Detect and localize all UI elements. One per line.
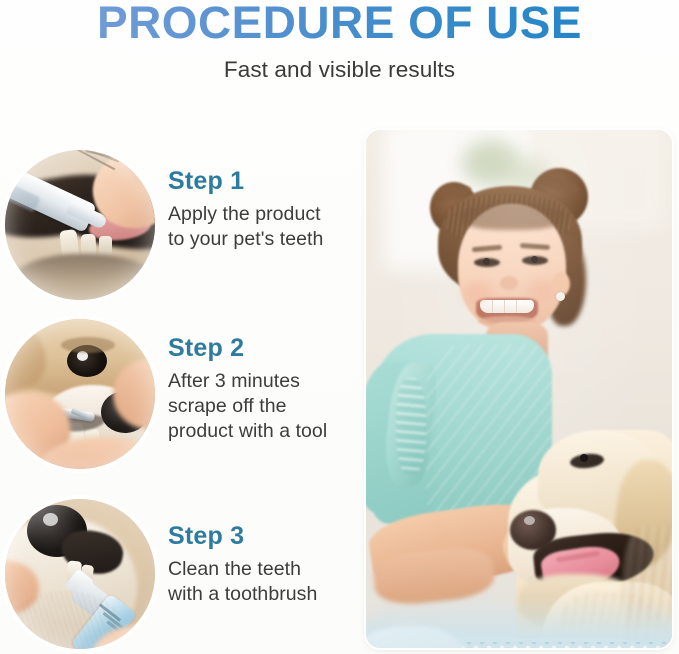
- step-2-image: [5, 319, 155, 469]
- step-2-text: Step 2 After 3 minutes scrape off the pr…: [155, 319, 327, 444]
- step-item-3: Step 3 Clean the teeth with a toothbrush: [0, 499, 356, 649]
- step-2-description: After 3 minutes scrape off the product w…: [168, 363, 327, 444]
- dog-teeth-gel-application-photo: [5, 150, 155, 300]
- shiba-inu-tartar-scraping-photo: [5, 319, 155, 469]
- girl-hugging-golden-retriever-photo: [366, 130, 672, 648]
- step-3-description: Clean the teeth with a toothbrush: [168, 551, 317, 607]
- steps-list: Step 1 Apply the product to your pet's t…: [0, 131, 356, 651]
- poster-header: PROCEDURE OF USE Fast and visible result…: [0, 0, 679, 83]
- step-3-image: [5, 499, 155, 649]
- step-3-title: Step 3: [168, 521, 317, 551]
- step-1-image: [5, 150, 155, 300]
- step-1-description: Apply the product to your pet's teeth: [168, 196, 323, 252]
- dog-toothbrush-pen-photo: [5, 499, 155, 649]
- step-1-text: Step 1 Apply the product to your pet's t…: [155, 150, 323, 252]
- page-title: PROCEDURE OF USE: [0, 0, 679, 45]
- page-subtitle: Fast and visible results: [0, 45, 679, 83]
- step-2-title: Step 2: [168, 333, 327, 363]
- step-1-title: Step 1: [168, 166, 323, 196]
- hero-image: [366, 130, 672, 648]
- step-3-text: Step 3 Clean the teeth with a toothbrush: [155, 499, 317, 607]
- step-item-2: Step 2 After 3 minutes scrape off the pr…: [0, 319, 356, 469]
- step-item-1: Step 1 Apply the product to your pet's t…: [0, 150, 356, 300]
- procedure-of-use-poster: PROCEDURE OF USE Fast and visible result…: [0, 0, 679, 654]
